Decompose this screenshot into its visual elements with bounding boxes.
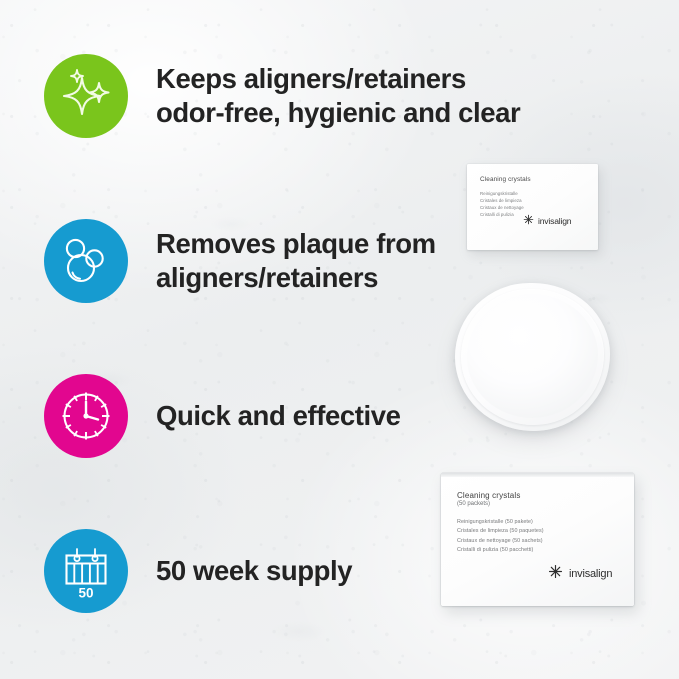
large-box-languages: Reinigungskristalle (50 pakete) Cristale…	[457, 518, 618, 556]
tub-lid-surface	[467, 294, 598, 418]
large-box-subtitle: (50 packets)	[457, 501, 618, 507]
product-large-box: Cleaning crystals (50 packets) Reinigung…	[441, 473, 634, 606]
language-line: Reinigungskristalle (50 pakete)	[457, 518, 618, 527]
product-crystal-tub	[455, 283, 610, 431]
clock-icon	[57, 387, 115, 445]
calendar-icon: 50	[58, 543, 114, 599]
feature-label: Removes plaque from aligners/retainers	[156, 227, 436, 295]
bubbles-icon	[59, 234, 113, 288]
brand-wordmark: invisalign	[569, 568, 612, 580]
feature-badge-sparkle	[44, 54, 128, 138]
language-line: Cristales de limpieza (50 paquetes)	[457, 527, 618, 536]
feature-label: 50 week supply	[156, 554, 352, 588]
feature-badge-clock	[44, 374, 128, 458]
language-line: Cristaux de nettoyage (50 sachets)	[457, 537, 618, 546]
feature-label: Keeps aligners/retainers odor-free, hygi…	[156, 62, 520, 130]
feature-item-sparkle: Keeps aligners/retainers odor-free, hygi…	[44, 54, 520, 138]
small-box-title: Cleaning crystals	[480, 176, 585, 183]
sparkle-icon	[58, 68, 114, 124]
large-box-title: Cleaning crystals	[457, 491, 618, 500]
product-small-box: Cleaning crystals Reinigungskristalle Cr…	[467, 164, 598, 250]
small-box-brand-lockup: invisalign	[523, 212, 571, 230]
starburst-icon	[548, 564, 563, 584]
brand-wordmark: invisalign	[538, 216, 571, 226]
language-line: Cristalli di pulizia (50 pacchetti)	[457, 546, 618, 555]
language-line: Reinigungskristalle	[480, 190, 585, 197]
language-line: Cristaux de nettoyage	[480, 204, 585, 211]
feature-item-calendar: 50 50 week supply	[44, 529, 352, 613]
language-line: Cristales de limpieza	[480, 197, 585, 204]
feature-item-clock: Quick and effective	[44, 374, 401, 458]
product-feature-image: Keeps aligners/retainers odor-free, hygi…	[0, 0, 679, 679]
box-top-edge	[441, 473, 634, 477]
large-box-brand-lockup: invisalign	[548, 564, 612, 584]
feature-label: Quick and effective	[156, 399, 401, 433]
calendar-badge-number: 50	[78, 586, 93, 600]
feature-badge-bubbles	[44, 219, 128, 303]
feature-item-bubbles: Removes plaque from aligners/retainers	[44, 219, 436, 303]
feature-badge-calendar: 50	[44, 529, 128, 613]
starburst-icon	[523, 212, 534, 230]
